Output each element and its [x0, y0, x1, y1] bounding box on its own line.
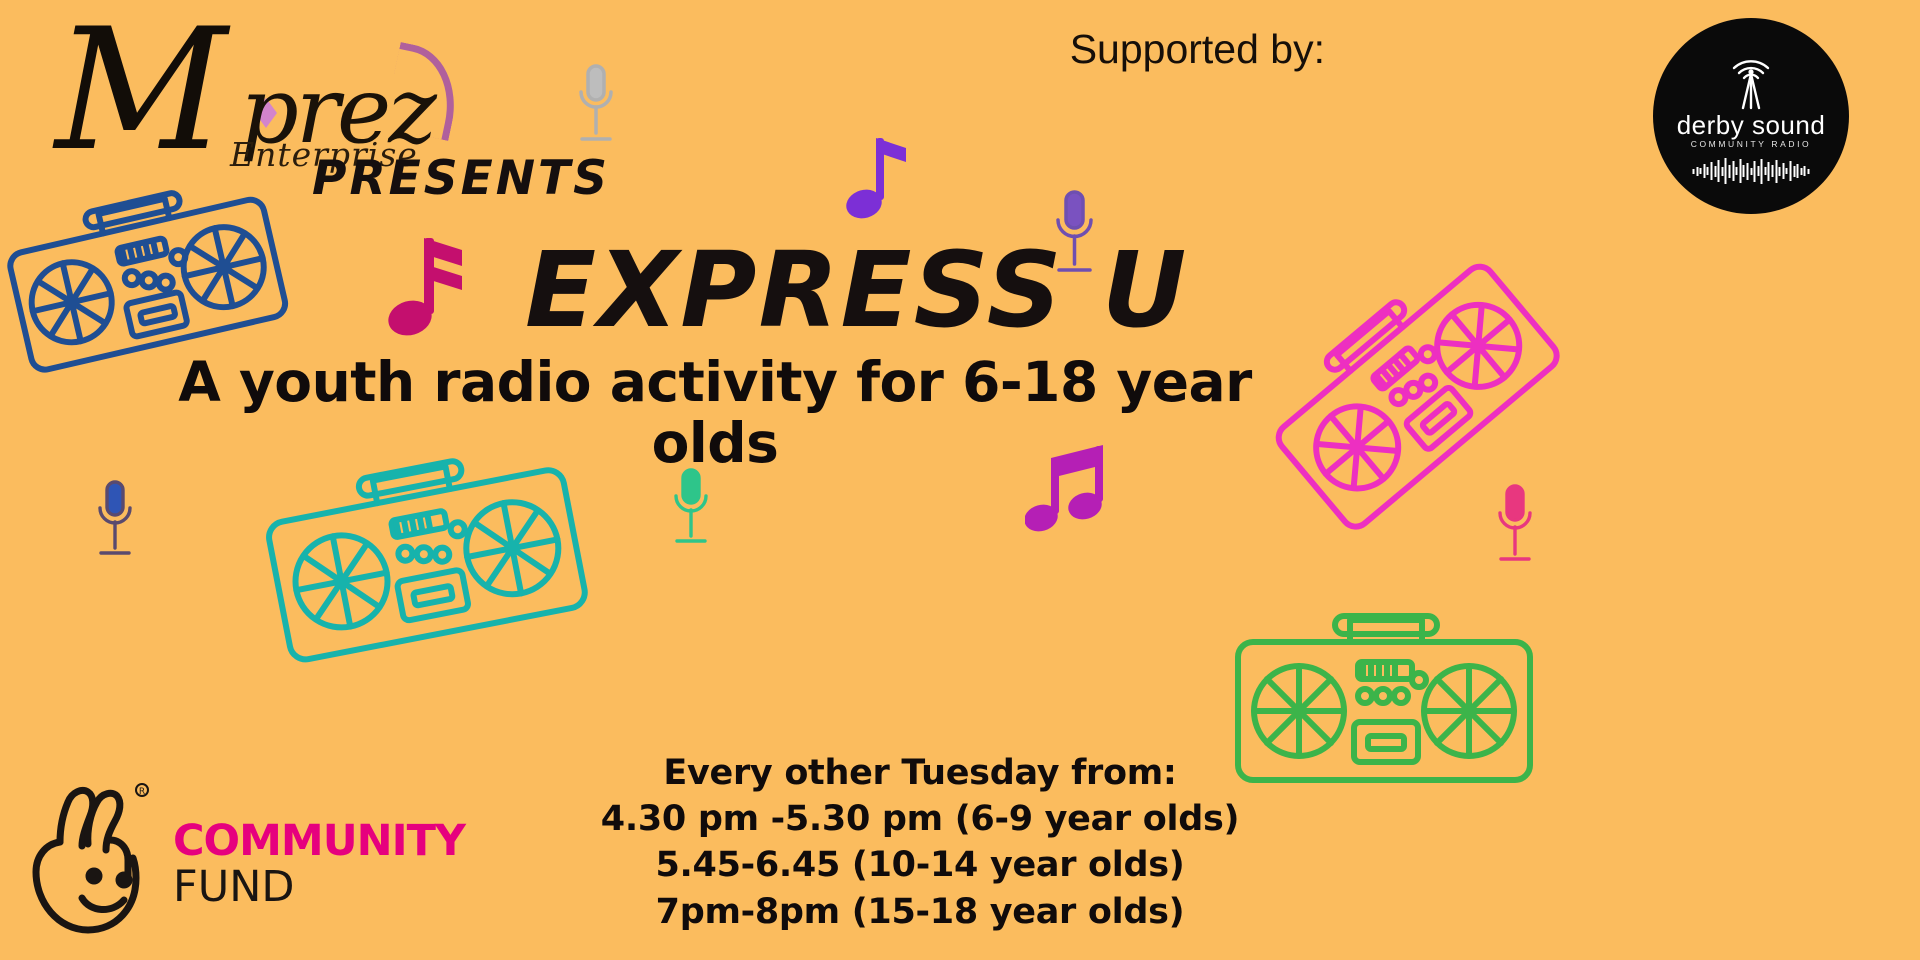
microphone-pink — [1492, 482, 1538, 572]
community-fund-word-two: FUND — [173, 862, 294, 912]
schedule-line: 7pm-8pm (15-18 year olds) — [560, 889, 1280, 935]
mprez-logo-letter: M — [55, 6, 217, 174]
svg-text:R: R — [139, 787, 145, 797]
schedule-block: Every other Tuesday from: 4.30 pm -5.30 … — [560, 750, 1280, 935]
microphone-green — [668, 466, 714, 554]
boombox-magenta — [1265, 240, 1565, 550]
derby-sound-name: derby sound — [1653, 110, 1849, 141]
radio-tower-icon — [1720, 58, 1782, 110]
waveform-icon — [1693, 158, 1810, 184]
supported-by-label: Supported by: — [1055, 26, 1325, 73]
derby-sound-logo: derby sound COMMUNITY RADIO — [1653, 18, 1849, 214]
crossed-fingers-icon: R — [30, 780, 165, 940]
community-fund-logo: R COMMUNITY FUND — [30, 780, 450, 960]
subtitle: A youth radio activity for 6-18 year old… — [150, 352, 1280, 473]
schedule-line: 4.30 pm -5.30 pm (6-9 year olds) — [560, 796, 1280, 842]
title-text: EXPRESS U — [525, 238, 1188, 342]
community-fund-word-one: COMMUNITY — [173, 816, 465, 866]
music-note-violet — [840, 132, 910, 222]
music-note-magenta — [380, 230, 472, 340]
microphone-blue — [92, 478, 138, 566]
microphone-grey — [572, 62, 620, 152]
presents-label: PRESENTS — [312, 155, 610, 202]
page-title: EXPRESS U — [525, 238, 1188, 342]
poster-canvas: M prez Enterprise PRESENTS EXPRESS U A y… — [0, 0, 1920, 960]
presents-label-wrap: PRESENTS — [312, 155, 610, 202]
schedule-heading: Every other Tuesday from: — [560, 750, 1280, 796]
derby-sound-subtitle: COMMUNITY RADIO — [1653, 139, 1849, 149]
schedule-line: 5.45-6.45 (10-14 year olds) — [560, 842, 1280, 888]
